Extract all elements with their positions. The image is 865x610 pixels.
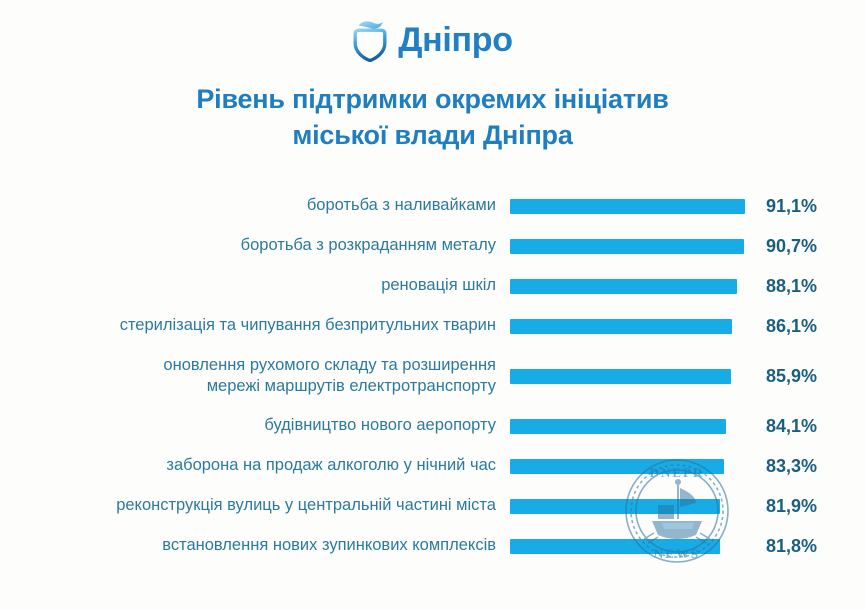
chart-row: заборона на продаж алкоголю у нічний час… [0,446,865,486]
bar [510,459,724,474]
chart-row: реконструкція вулиць у центральній части… [0,486,865,526]
chart-row: оновлення рухомого складу та розширення … [0,346,865,406]
bar [510,419,726,434]
bar [510,499,720,514]
chart-row: стерилізація та чипування безпритульних … [0,306,865,346]
bar-value: 81,8% [750,536,850,557]
brand-header: Дніпро [0,18,865,62]
bar-track [510,526,750,566]
bar [510,279,737,294]
page-title: Рівень підтримки окремих ініціатив міськ… [0,82,865,153]
brand-name: Дніпро [398,23,512,57]
bar-label: реновація шкіл [0,275,510,296]
bar-label: стерилізація та чипування безпритульних … [0,315,510,336]
bar-label: встановлення нових зупинкових комплексів [0,535,510,556]
bar-value: 85,9% [750,366,850,387]
chart-row: боротьба з розкраданням металу90,7% [0,226,865,266]
bar-track [510,226,750,266]
bar-track [510,346,750,406]
bar-label: заборона на продаж алкоголю у нічний час [0,455,510,476]
bar-track [510,446,750,486]
bar-track [510,486,750,526]
bar-value: 83,3% [750,456,850,477]
bar-value: 90,7% [750,236,850,257]
page-title-line-1: Рівень підтримки окремих ініціатив [0,82,865,118]
bar-value: 88,1% [750,276,850,297]
bar [510,369,731,384]
bar [510,319,732,334]
bar-value: 81,9% [750,496,850,517]
chart-row: будівництво нового аеропорту84,1% [0,406,865,446]
bar-value: 86,1% [750,316,850,337]
bar-value: 84,1% [750,416,850,437]
bar-chart: боротьба з наливайками91,1%боротьба з ро… [0,186,865,566]
bar-track [510,186,750,226]
chart-row: боротьба з наливайками91,1% [0,186,865,226]
bar-value: 91,1% [750,196,850,217]
chart-row: встановлення нових зупинкових комплексів… [0,526,865,566]
bar-label: оновлення рухомого складу та розширення … [0,355,510,397]
bar-label: реконструкція вулиць у центральній части… [0,495,510,516]
shield-wave-icon [352,18,388,62]
page-title-line-2: міської влади Дніпра [0,118,865,154]
chart-row: реновація шкіл88,1% [0,266,865,306]
bar [510,539,720,554]
bar-track [510,306,750,346]
bar-label: боротьба з розкраданням металу [0,235,510,256]
bar-label: будівництво нового аеропорту [0,415,510,436]
bar-label: боротьба з наливайками [0,195,510,216]
bar [510,199,745,214]
bar [510,239,744,254]
bar-track [510,406,750,446]
bar-track [510,266,750,306]
